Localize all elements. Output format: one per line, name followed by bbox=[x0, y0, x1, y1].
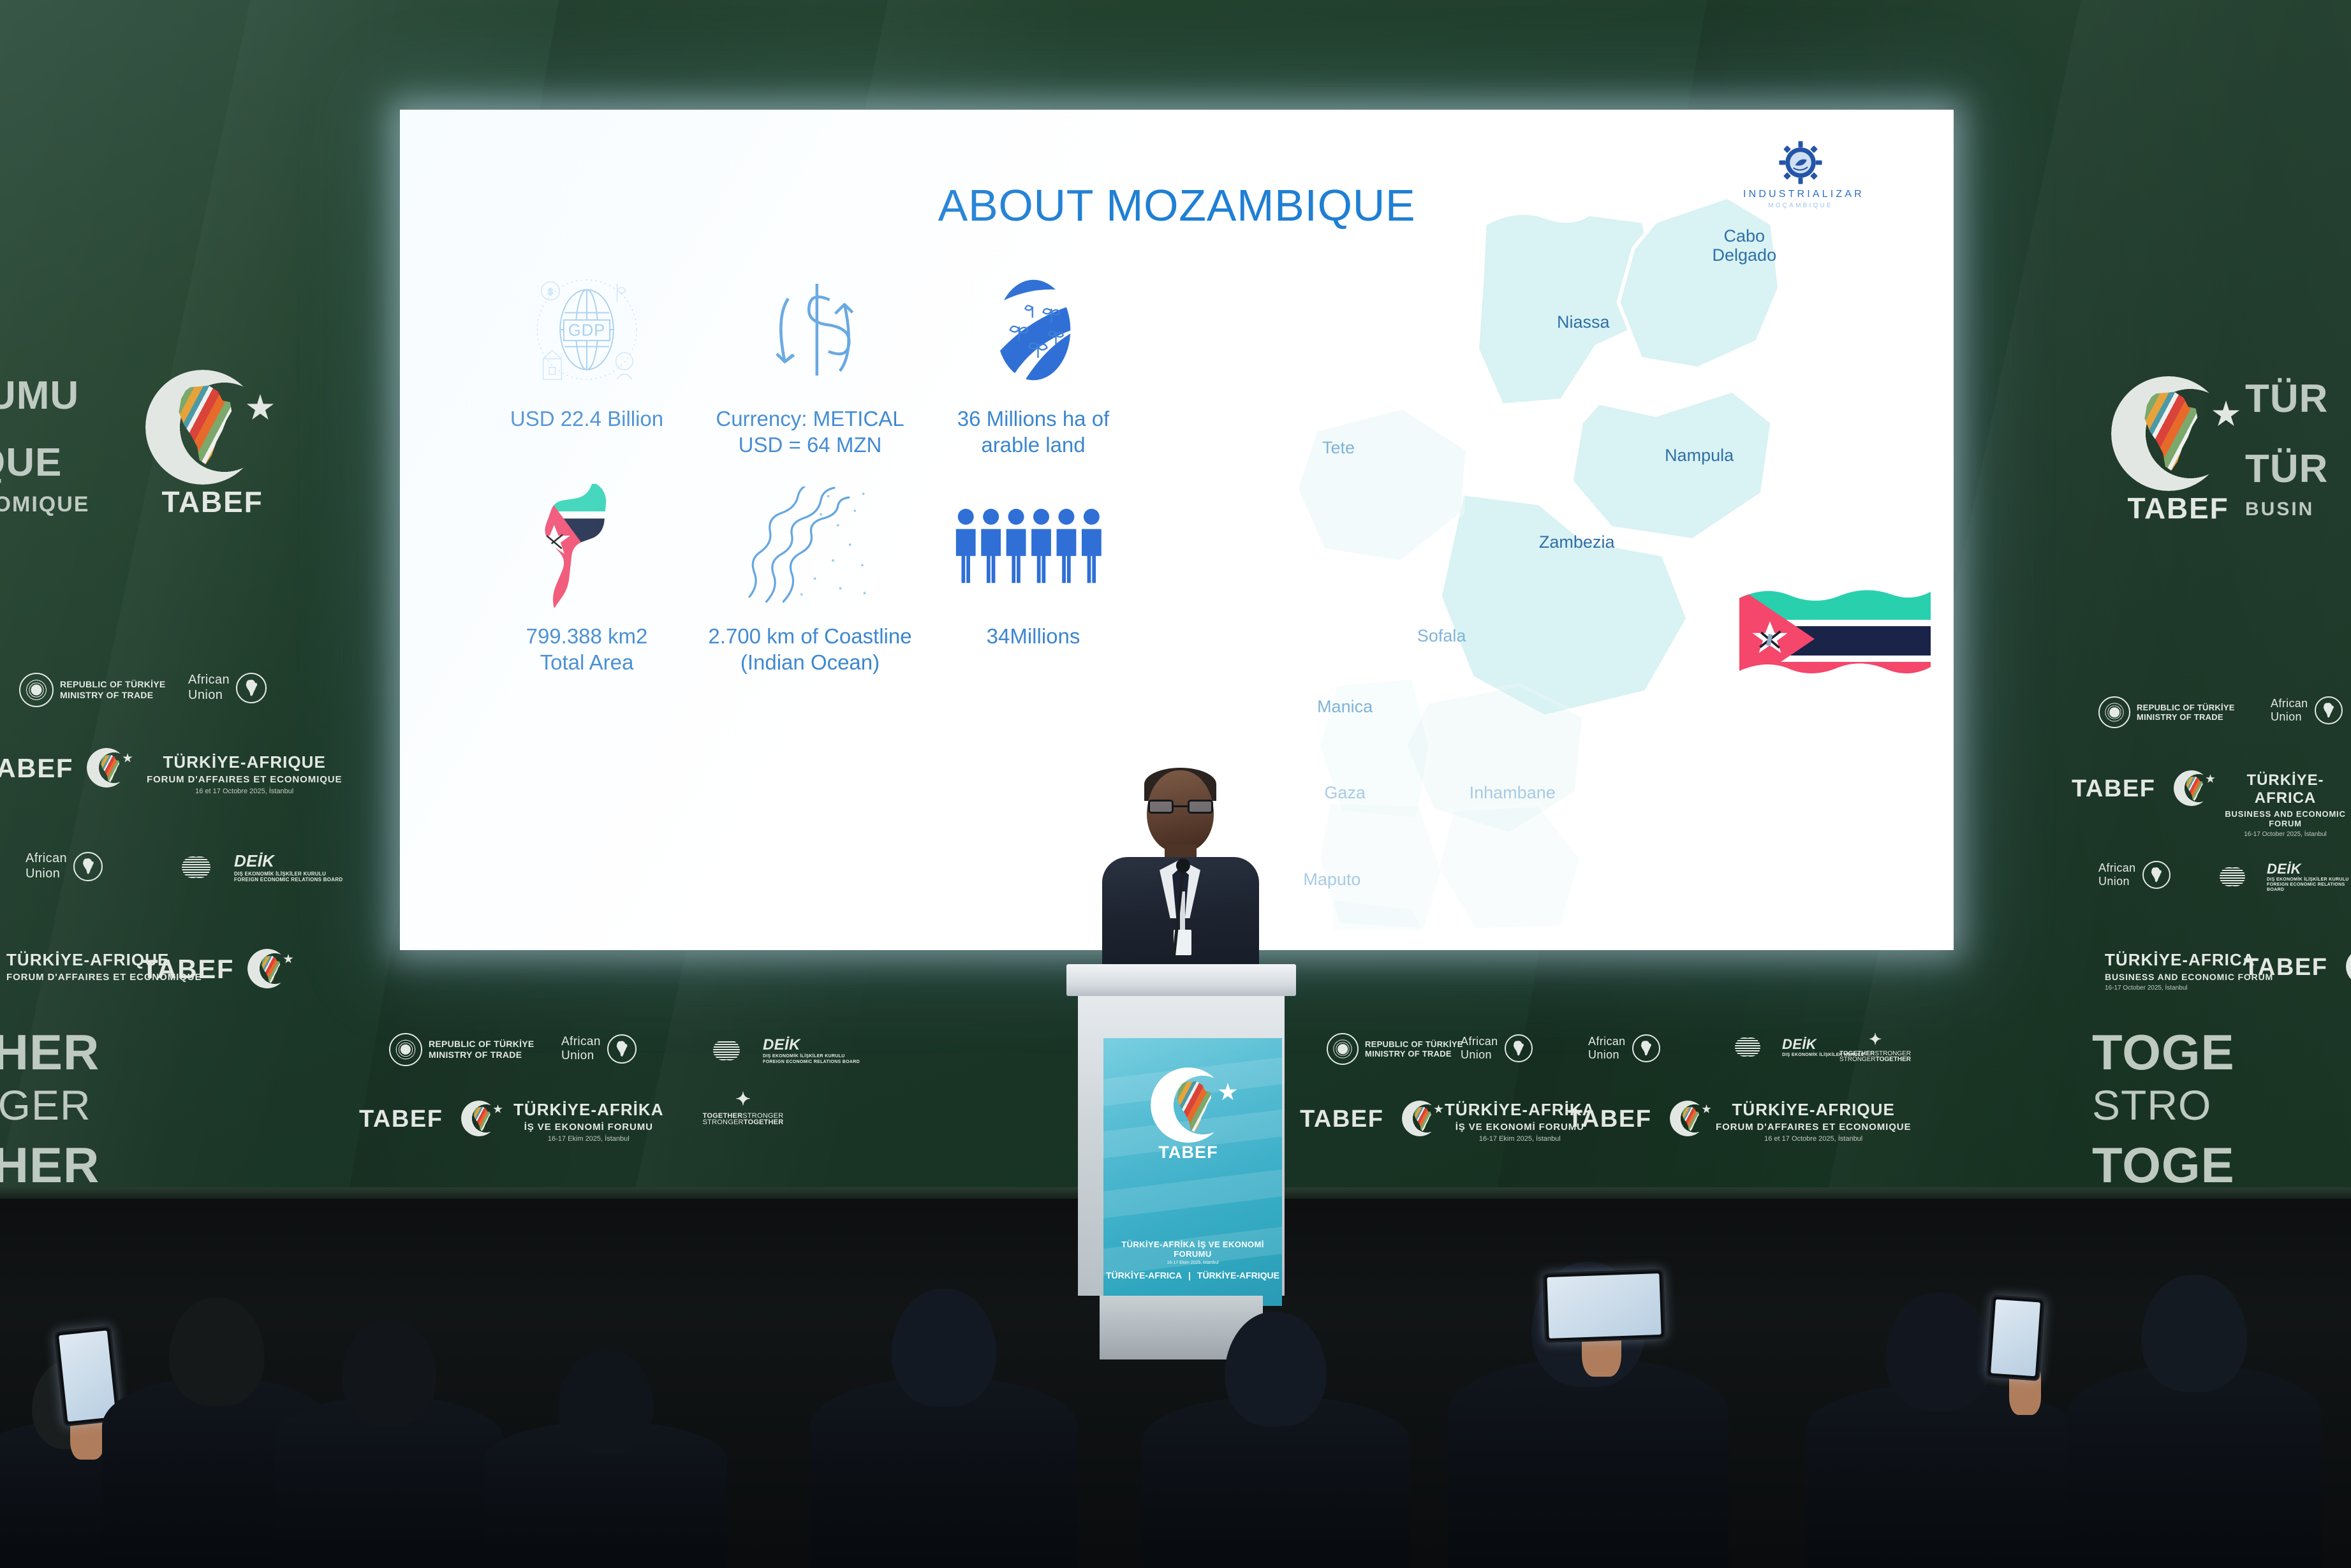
african-union-icon bbox=[1632, 1034, 1660, 1062]
podium-line-en: TÜRKİYE-AFRICA bbox=[1106, 1270, 1182, 1280]
arable-land-leaf-icon bbox=[978, 263, 1089, 397]
audience-member bbox=[274, 1396, 504, 1568]
tabef-wordmark: TABEF bbox=[2072, 775, 2174, 803]
african-union-icon bbox=[2315, 696, 2343, 724]
turkiye-seal-icon bbox=[19, 673, 54, 707]
ts-line3: STRONGER bbox=[703, 1118, 744, 1126]
sponsor-ministry: REPUBLIC OF TÜRKİYE MINISTRY OF TRADE bbox=[1327, 1033, 1463, 1065]
event-subtitle-fr: FORUM D'AFFAIRES ET ECONOMIQUE bbox=[147, 774, 342, 785]
backdrop-wordmark-left-3: NOMIQUE bbox=[0, 492, 89, 517]
african-union-icon bbox=[1505, 1034, 1533, 1062]
audience-member bbox=[2067, 1364, 2322, 1568]
phone-device bbox=[1986, 1294, 2045, 1381]
sponsor-ministry: REPUBLIC OF TÜRKİYE MINISTRY OF TRADE bbox=[19, 673, 166, 707]
tabef-wordmark: TABEF bbox=[2244, 954, 2346, 981]
backdrop-together-2: THER bbox=[0, 1136, 99, 1194]
sponsor-african-union: African Union bbox=[188, 673, 267, 703]
tabef-wordmark: TABEF bbox=[139, 485, 286, 519]
tabef-logo-small-far-right: TABEF bbox=[2098, 765, 2213, 816]
sponsor-line1: REPUBLIC OF TÜRKİYE bbox=[60, 679, 166, 690]
province-label-gaza: Gaza bbox=[1324, 783, 1366, 802]
backdrop-stronger-right-1: STRO bbox=[2092, 1081, 2211, 1129]
sponsor-line1: African bbox=[2271, 697, 2308, 710]
sponsor-line1: African bbox=[2098, 861, 2136, 875]
deik-sub2: FOREIGN ECONOMIC RELATIONS BOARD bbox=[234, 877, 343, 883]
sponsor-african-union: African Union bbox=[561, 1034, 637, 1064]
event-title-block-en-right: TÜRKİYE-AFRICA BUSINESS AND ECONOMIC FOR… bbox=[2220, 772, 2351, 838]
deik-sub1: DIŞ EKONOMİK İLİŞKİLER KURULU bbox=[763, 1054, 860, 1059]
podium-date: 16-17 Ekim 2025, İstanbul bbox=[1103, 1261, 1282, 1265]
podium-line-fr: TÜRKİYE-AFRIQUE bbox=[1197, 1270, 1279, 1280]
tabef-logo-small-right: TABEF bbox=[1327, 1095, 1441, 1147]
sponsor-line2: Union bbox=[26, 867, 67, 882]
podium-divider: | bbox=[1188, 1270, 1191, 1280]
podium-body: TABEF TÜRKİYE-AFRİKA İŞ VE EKONOMİ FORUM… bbox=[1078, 996, 1285, 1296]
sponsor-african-union: African Union bbox=[1461, 1034, 1533, 1062]
tabef-wordmark: TABEF bbox=[142, 954, 244, 985]
stat-caption: 2.700 km of Coastline (Indian Ocean) bbox=[708, 623, 911, 676]
tabef-wordmark: TABEF bbox=[1151, 1143, 1226, 1162]
sponsor-african-union: African Union bbox=[26, 851, 103, 881]
stat-row: 799.388 km2 Total Area bbox=[475, 480, 1145, 676]
sponsor-line2: Union bbox=[561, 1049, 601, 1063]
speaker-at-podium bbox=[1084, 770, 1276, 981]
deik-name: DEİK bbox=[2267, 861, 2351, 877]
tabef-wordmark: TABEF bbox=[359, 1106, 461, 1133]
sponsor-line2: Union bbox=[1588, 1048, 1626, 1062]
event-title-fr: TÜRKİYE-AFRIQUE bbox=[147, 752, 342, 772]
currency-exchange-icon bbox=[753, 263, 867, 397]
podium-top bbox=[1066, 964, 1296, 996]
event-date-fr: 16 et 17 Octobre 2025, İstanbul bbox=[147, 788, 342, 795]
podium-branding-panel: TABEF TÜRKİYE-AFRİKA İŞ VE EKONOMİ FORUM… bbox=[1103, 1038, 1282, 1306]
sponsor-african-union: African Union bbox=[2098, 861, 2170, 889]
tabef-logo-small-far-right-2: TABEF bbox=[2271, 944, 2351, 995]
tabef-wordmark: TABEF bbox=[2105, 491, 2252, 525]
sponsor-line1: REPUBLIC OF TÜRKİYE bbox=[429, 1039, 534, 1050]
sponsor-line2: MINISTRY OF TRADE bbox=[1365, 1049, 1463, 1059]
province-label-sofala: Sofala bbox=[1417, 626, 1466, 645]
audience-member bbox=[810, 1377, 1078, 1568]
event-date-tr: 16-17 Ekim 2025, İstanbul bbox=[1445, 1135, 1595, 1143]
sponsor-line2: MINISTRY OF TRADE bbox=[429, 1050, 534, 1060]
crescent-icon bbox=[2346, 949, 2351, 985]
stat-total-area: 799.388 km2 Total Area bbox=[475, 480, 698, 676]
together-stronger-icon: ✦ TOGETHERSTRONGER STRONGERTOGETHER bbox=[702, 1090, 785, 1126]
deik-icon bbox=[182, 856, 225, 878]
sponsor-line2: Union bbox=[1461, 1048, 1498, 1062]
stat-coastline: 2.700 km of Coastline (Indian Ocean) bbox=[698, 480, 922, 676]
african-union-icon bbox=[2142, 861, 2170, 889]
event-date-fr: 16 et 17 Octobre 2025, İstanbul bbox=[1716, 1135, 1911, 1143]
backdrop-wordmark-right-3: BUSIN bbox=[2245, 499, 2314, 520]
deik-sub1: DIŞ EKONOMİK İLİŞKİLER KURULU bbox=[2267, 877, 2351, 883]
deik-name: DEİK bbox=[763, 1036, 860, 1054]
deik-sub2: FOREIGN ECONOMIC RELATIONS BOARD bbox=[763, 1060, 860, 1065]
sponsor-line2: MINISTRY OF TRADE bbox=[2137, 712, 2235, 722]
tabef-wordmark: TABEF bbox=[1568, 1106, 1670, 1133]
sponsor-line1: African bbox=[26, 851, 67, 867]
event-title-en: TÜRKİYE-AFRICA bbox=[2220, 772, 2351, 807]
tabef-logo-small-left-2: TABEF bbox=[166, 944, 287, 995]
sponsor-line1: REPUBLIC OF TÜRKİYE bbox=[2137, 703, 2235, 712]
event-title-block-fr-right: TÜRKİYE-AFRIQUE FORUM D'AFFAIRES ET ECON… bbox=[1716, 1100, 1911, 1143]
glasses-icon bbox=[1148, 800, 1213, 814]
deik-sub1: DIŞ EKONOMİK İLİŞKİLER KURULU bbox=[234, 871, 343, 877]
province-label-manica: Manica bbox=[1317, 697, 1373, 716]
audience-member bbox=[1142, 1396, 1410, 1568]
backdrop-together-right-2: TOGE bbox=[2092, 1136, 2235, 1194]
event-title-block-tr-center: TÜRKİYE-AFRİKA İŞ VE EKONOMİ FORUMU 16-1… bbox=[513, 1100, 664, 1143]
sponsor-line2: Union bbox=[2271, 710, 2308, 724]
phone-device bbox=[1542, 1269, 1666, 1344]
event-title-tr: TÜRKİYE-AFRİKA bbox=[513, 1100, 664, 1120]
stat-caption: 34Millions bbox=[987, 623, 1080, 649]
province-inhambane bbox=[1438, 805, 1581, 930]
stat-caption: Currency: METICAL USD = 64 MZN bbox=[716, 406, 904, 458]
sponsor-deik: DEİK DIŞ EKONOMİK İLİŞKİLER KURULU FOREI… bbox=[182, 851, 343, 883]
tabef-logo-left: TABEF bbox=[139, 363, 286, 517]
tabef-logo-right: TABEF bbox=[2105, 370, 2252, 523]
event-subtitle-fr: FORUM D'AFFAIRES ET ECONOMIQUE bbox=[1716, 1122, 1911, 1132]
wall-light-band bbox=[0, 0, 443, 1199]
tabef-wordmark: TABEF bbox=[0, 753, 83, 784]
backdrop-wordmark-right-1: TÜR bbox=[2245, 376, 2328, 421]
backdrop-wordmark-left-1: UMU bbox=[0, 373, 79, 418]
tabef-wordmark: TABEF bbox=[1300, 1106, 1402, 1133]
deik-sub2: FOREIGN ECONOMIC RELATIONS BOARD bbox=[2267, 883, 2351, 893]
stat-caption: 799.388 km2 Total Area bbox=[526, 623, 648, 676]
event-title-fr: TÜRKİYE-AFRIQUE bbox=[1716, 1100, 1911, 1120]
province-label-niassa: Niassa bbox=[1557, 312, 1610, 332]
stat-row: $ bbox=[475, 263, 1145, 458]
stat-arable-land: 36 Millions ha of arable land bbox=[922, 263, 1145, 458]
african-union-icon bbox=[236, 673, 267, 703]
tabef-logo-small-right-2: TABEF bbox=[1595, 1095, 1709, 1147]
podium-event-text: TÜRKİYE-AFRİKA İŞ VE EKONOMİ FORUMU 16-1… bbox=[1103, 1240, 1282, 1280]
province-tete bbox=[1296, 407, 1467, 562]
province-label-maputo: Maputo bbox=[1303, 870, 1360, 889]
sponsor-ministry: REPUBLIC OF TÜRKİYE MINISTRY OF TRADE bbox=[2098, 696, 2235, 728]
backdrop-wordmark-right-2: TÜR bbox=[2245, 446, 2328, 492]
population-people-icon bbox=[954, 480, 1113, 614]
backdrop-stronger-1: NGER bbox=[0, 1081, 91, 1129]
stat-caption: USD 22.4 Billion bbox=[510, 406, 663, 432]
coastline-waves-icon bbox=[743, 480, 877, 614]
african-union-icon bbox=[607, 1034, 637, 1064]
province-label-zambezia: Zambezia bbox=[1539, 532, 1615, 552]
sponsor-line1: African bbox=[188, 673, 230, 688]
turkiye-seal-icon bbox=[2098, 696, 2130, 728]
sponsor-deik: DEİK DIŞ EKONOMİK İLİŞKİLER KURULU FOREI… bbox=[2220, 861, 2351, 893]
podium-line-tr: TÜRKİYE-AFRİKA İŞ VE EKONOMİ FORUMU bbox=[1103, 1240, 1282, 1259]
turkiye-seal-icon bbox=[389, 1033, 422, 1066]
svg-text:GDP: GDP bbox=[568, 322, 605, 340]
statistics-grid: $ bbox=[475, 263, 1145, 675]
sponsor-african-union: African Union bbox=[1588, 1034, 1660, 1062]
mozambique-province-map: Cabo Delgado Niassa Nampula Tete Zambezi… bbox=[1242, 148, 1886, 932]
deik-name: DEİK bbox=[234, 851, 343, 871]
ts-line4: TOGETHER bbox=[744, 1118, 784, 1126]
event-subtitle-en: BUSINESS AND ECONOMIC FORUM bbox=[2220, 809, 2351, 828]
sponsor-line1: African bbox=[561, 1035, 601, 1049]
stat-population: 34Millions bbox=[922, 480, 1145, 676]
mozambique-flag-icon bbox=[1739, 588, 1931, 690]
african-union-icon bbox=[73, 852, 103, 881]
sponsor-african-union: African Union bbox=[2271, 696, 2343, 724]
province-label-inhambane: Inhambane bbox=[1470, 783, 1556, 802]
podium: TABEF TÜRKİYE-AFRİKA İŞ VE EKONOMİ FORUM… bbox=[1066, 964, 1296, 1359]
sponsor-deik: DEİK DIŞ EKONOMİK İLİŞKİLER KURULU FOREI… bbox=[713, 1036, 860, 1065]
sponsor-line1: REPUBLIC OF TÜRKİYE bbox=[1365, 1039, 1463, 1049]
audience-member bbox=[1448, 1358, 1728, 1568]
stat-caption: 36 Millions ha of arable land bbox=[957, 406, 1109, 458]
event-subtitle-tr: İŞ VE EKONOMİ FORUMU bbox=[513, 1122, 664, 1132]
sponsor-line2: Union bbox=[2098, 875, 2136, 888]
province-label-tete: Tete bbox=[1322, 438, 1355, 457]
backdrop-together-1: THER bbox=[0, 1023, 99, 1081]
event-date-tr: 16-17 Ekim 2025, İstanbul bbox=[513, 1135, 664, 1143]
backdrop-together-right-1: TOGE bbox=[2092, 1023, 2235, 1081]
event-date-en: 16-17 October 2025, İstanbul bbox=[2105, 985, 2273, 992]
province-label-nampula: Nampula bbox=[1665, 446, 1734, 465]
sponsor-line1: African bbox=[1588, 1035, 1626, 1048]
sponsor-line2: Union bbox=[188, 688, 230, 703]
deik-icon bbox=[713, 1040, 754, 1060]
stat-currency: Currency: METICAL USD = 64 MZN bbox=[698, 263, 922, 458]
deik-icon bbox=[1735, 1037, 1773, 1057]
event-date-en: 16-17 October 2025, İstanbul bbox=[2220, 831, 2351, 838]
svg-text:$: $ bbox=[548, 287, 553, 297]
tabef-logo-podium: TABEF bbox=[1151, 1067, 1246, 1163]
backdrop-wordmark-left-2: QUE bbox=[0, 440, 62, 485]
mozambique-flag-map-icon bbox=[536, 480, 638, 614]
turkiye-seal-icon bbox=[1327, 1033, 1359, 1065]
tabef-logo-small-left: TABEF bbox=[5, 743, 126, 794]
deik-icon bbox=[2220, 867, 2258, 886]
tabef-logo-small-center: TABEF bbox=[386, 1095, 501, 1147]
ts-line4: TOGETHER bbox=[1876, 1056, 1911, 1063]
sponsor-together-stronger: ✦ TOGETHERSTRONGER STRONGERTOGETHER bbox=[1837, 1033, 1913, 1062]
ts-line3: STRONGER bbox=[1839, 1056, 1876, 1063]
province-nampula bbox=[1572, 391, 1772, 540]
stat-gdp: $ bbox=[475, 263, 698, 458]
sponsor-line2: MINISTRY OF TRADE bbox=[60, 690, 166, 701]
event-title-block-fr-left: TÜRKİYE-AFRIQUE FORUM D'AFFAIRES ET ECON… bbox=[147, 752, 342, 795]
gdp-globe-icon: $ bbox=[526, 263, 647, 397]
sponsor-line1: African bbox=[1461, 1035, 1498, 1048]
province-label-cabo-delgado: Cabo Delgado bbox=[1713, 226, 1777, 265]
audience-member bbox=[485, 1421, 727, 1568]
sponsor-ministry: REPUBLIC OF TÜRKİYE MINISTRY OF TRADE bbox=[389, 1033, 534, 1066]
